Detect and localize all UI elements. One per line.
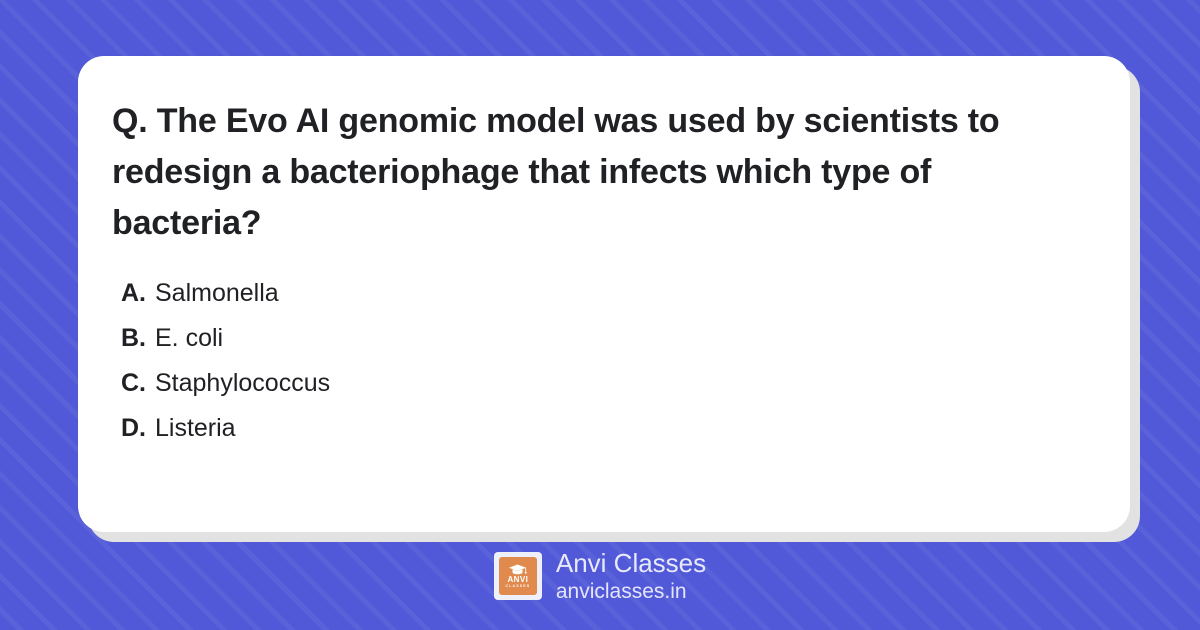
graduation-cap-icon [508, 564, 527, 575]
brand-name: Anvi Classes [556, 548, 706, 579]
question-text: Q. The Evo AI genomic model was used by … [112, 96, 1084, 249]
option-row-d[interactable]: D. Listeria [121, 406, 1084, 451]
page-root: Q. The Evo AI genomic model was used by … [0, 0, 1200, 630]
brand-textblock: Anvi Classes anviclasses.in [556, 548, 706, 605]
option-letter-d: D. [121, 406, 146, 451]
option-letter-a: A. [121, 271, 146, 316]
brand-footer: ANVI CLASSES Anvi Classes anviclasses.in [0, 548, 1200, 605]
brand-logo-tile: ANVI CLASSES [499, 557, 537, 595]
option-row-a[interactable]: A. Salmonella [121, 271, 1084, 316]
options-list: A. Salmonella B. E. coli C. Staphylococc… [112, 271, 1084, 451]
brand-logo: ANVI CLASSES [494, 552, 542, 600]
option-row-c[interactable]: C. Staphylococcus [121, 361, 1084, 406]
brand-logo-sub: CLASSES [506, 584, 531, 589]
option-text-d: Listeria [155, 406, 236, 451]
option-letter-b: B. [121, 316, 146, 361]
quiz-card-content: Q. The Evo AI genomic model was used by … [78, 56, 1130, 451]
brand-logo-name: ANVI [508, 576, 529, 584]
option-text-b: E. coli [155, 316, 223, 361]
option-letter-c: C. [121, 361, 146, 406]
option-text-a: Salmonella [155, 271, 279, 316]
quiz-card: Q. The Evo AI genomic model was used by … [78, 56, 1130, 532]
option-text-c: Staphylococcus [155, 361, 330, 406]
option-row-b[interactable]: B. E. coli [121, 316, 1084, 361]
brand-url: anviclasses.in [556, 579, 706, 605]
